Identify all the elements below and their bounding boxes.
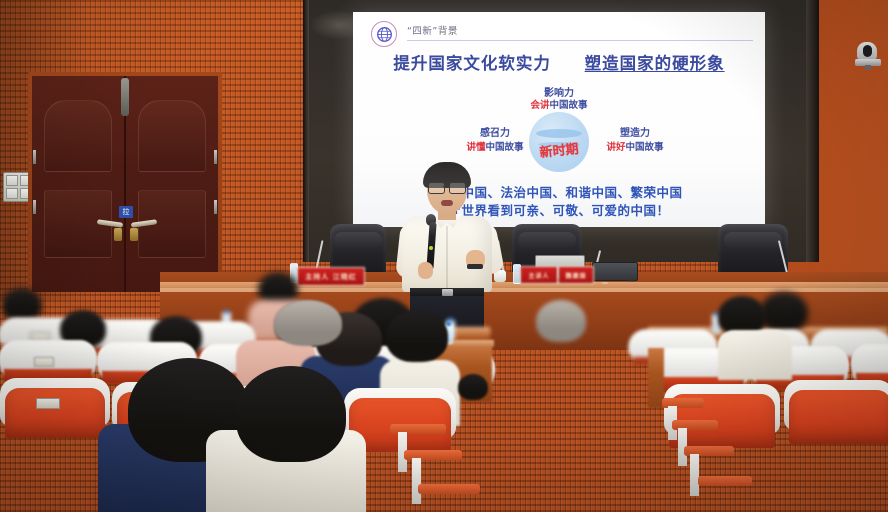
door-hinge: [33, 200, 36, 214]
auditorium-seat: [789, 390, 888, 444]
door-lock-right: [130, 228, 138, 241]
slide-title-part2: 塑造国家的硬形象: [585, 54, 725, 73]
presenter-mouth: [441, 200, 453, 206]
slide-word-top-sub-red: 会讲: [530, 100, 549, 111]
slide-header: “四新”背景: [371, 18, 755, 44]
audience-head: [386, 310, 448, 362]
audience-head: [760, 292, 808, 332]
globe-logo-icon: [371, 21, 397, 47]
seat-armrest: [418, 484, 480, 494]
auditorium-seat: [5, 388, 105, 438]
presenter-left-hand: [418, 262, 433, 279]
camera-mount-arm: [865, 65, 871, 70]
slide-word-right-sub: 讲好中国故事: [589, 139, 681, 153]
slide-globe-graphic: 新时期: [523, 112, 595, 172]
door-panel-upper-left: [44, 100, 112, 172]
seat-support-post: [412, 458, 421, 504]
camera-lens: [863, 45, 872, 57]
presenter: [396, 162, 500, 332]
lecture-hall-photo: “四新”背景 提升国家文化软实力 塑造国家的硬形象 影响力 会讲中国故事 感召力…: [0, 0, 888, 512]
audience-head: [458, 374, 488, 400]
seat-support-post: [690, 454, 699, 496]
microphone-led: [429, 246, 433, 250]
camera-body: [857, 42, 877, 60]
slide-word-right: 塑造力: [589, 124, 681, 139]
slide-word-top-sub-rest: 中国故事: [550, 100, 588, 111]
audience-head: [2, 288, 42, 322]
presenter-shirt-placket: [446, 226, 448, 290]
seat-number-plate: [34, 357, 54, 367]
slide-word-left-sub-red: 讲懂: [466, 142, 485, 153]
seat-armrest: [698, 476, 752, 486]
belt-buckle: [442, 289, 453, 296]
slide-title-part1: 提升国家文化软实力: [393, 54, 551, 73]
wall-camera-icon: [855, 42, 881, 68]
door-panel-upper-right: [138, 100, 206, 172]
slide-title: 提升国家文化软实力 塑造国家的硬形象: [353, 50, 765, 74]
door-hinge: [214, 200, 217, 214]
audience-head: [536, 300, 586, 342]
seat-number-plate: [36, 398, 60, 409]
switch-3[interactable]: [6, 188, 18, 199]
eyeglasses-icon: [428, 182, 466, 192]
slide-header-label: “四新”背景: [407, 23, 458, 37]
nameplate-host: 主持人 江晓红: [297, 267, 365, 286]
nameplate-guest: 魏建国: [558, 266, 594, 284]
door-hinge: [214, 150, 217, 164]
wristwatch-icon: [467, 264, 483, 269]
globe-calligraphy-text: 新时期: [539, 138, 580, 161]
door-hinge: [33, 150, 36, 164]
switch-1[interactable]: [6, 175, 18, 186]
audience-body: [718, 330, 792, 380]
audience-head: [274, 300, 342, 346]
nameplate-speaker: 主讲人: [520, 266, 558, 284]
slide-word-right-sub-red: 讲好: [606, 142, 625, 153]
door-lock-left: [114, 228, 122, 241]
slide-word-left-sub-rest: 中国故事: [486, 142, 524, 153]
door-top-bolt: [121, 78, 129, 116]
slide-header-rule: [407, 40, 753, 41]
recess-edge-right: [806, 0, 819, 262]
slide-word-top-sub: 会讲中国故事: [353, 97, 765, 111]
slide-word-right-sub-rest: 中国故事: [626, 142, 664, 153]
audience-head: [236, 366, 346, 462]
door-pull-sign: 拉: [119, 206, 133, 218]
